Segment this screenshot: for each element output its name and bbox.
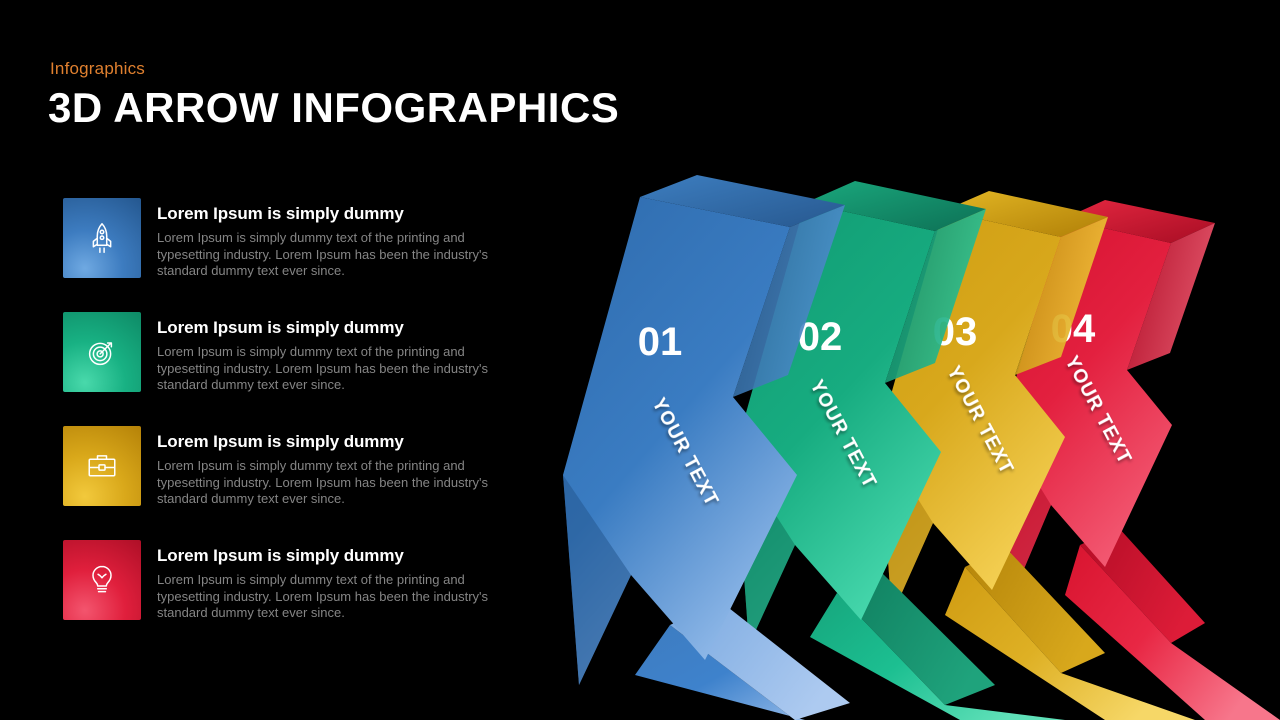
list-item-heading: Lorem Ipsum is simply dummy <box>157 432 493 452</box>
list-item[interactable]: Lorem Ipsum is simply dummy Lorem Ipsum … <box>63 312 493 426</box>
list-item[interactable]: Lorem Ipsum is simply dummy Lorem Ipsum … <box>63 540 493 654</box>
rocket-icon <box>84 220 120 256</box>
lightbulb-icon <box>84 562 120 598</box>
list-item-body: Lorem Ipsum is simply dummy text of the … <box>157 344 493 394</box>
rocket-icon-tile[interactable] <box>63 198 141 278</box>
list-item-heading: Lorem Ipsum is simply dummy <box>157 546 493 566</box>
list-item-text: Lorem Ipsum is simply dummy Lorem Ipsum … <box>157 204 493 280</box>
list-item[interactable]: Lorem Ipsum is simply dummy Lorem Ipsum … <box>63 426 493 540</box>
list-item-body: Lorem Ipsum is simply dummy text of the … <box>157 572 493 622</box>
feature-list: Lorem Ipsum is simply dummy Lorem Ipsum … <box>63 198 493 654</box>
list-item[interactable]: Lorem Ipsum is simply dummy Lorem Ipsum … <box>63 198 493 312</box>
target-icon-tile[interactable] <box>63 312 141 392</box>
slide-root: Infographics 3D ARROW INFOGRAPHICS Lor <box>0 0 1280 720</box>
list-item-body: Lorem Ipsum is simply dummy text of the … <box>157 230 493 280</box>
target-icon <box>84 334 120 370</box>
list-item-heading: Lorem Ipsum is simply dummy <box>157 318 493 338</box>
list-item-text: Lorem Ipsum is simply dummy Lorem Ipsum … <box>157 318 493 394</box>
eyebrow-label: Infographics <box>50 59 145 79</box>
lightbulb-icon-tile[interactable] <box>63 540 141 620</box>
arrow-infographic-svg: 04 YOUR TEXT 03 YOUR TEXT <box>505 175 1280 720</box>
arrow-infographic: 04 YOUR TEXT 03 YOUR TEXT <box>505 175 1280 720</box>
list-item-text: Lorem Ipsum is simply dummy Lorem Ipsum … <box>157 546 493 622</box>
arrow-01-number: 01 <box>638 320 683 364</box>
list-item-text: Lorem Ipsum is simply dummy Lorem Ipsum … <box>157 432 493 508</box>
briefcase-icon <box>84 448 120 484</box>
list-item-body: Lorem Ipsum is simply dummy text of the … <box>157 458 493 508</box>
briefcase-icon-tile[interactable] <box>63 426 141 506</box>
page-title: 3D ARROW INFOGRAPHICS <box>48 86 619 130</box>
list-item-heading: Lorem Ipsum is simply dummy <box>157 204 493 224</box>
